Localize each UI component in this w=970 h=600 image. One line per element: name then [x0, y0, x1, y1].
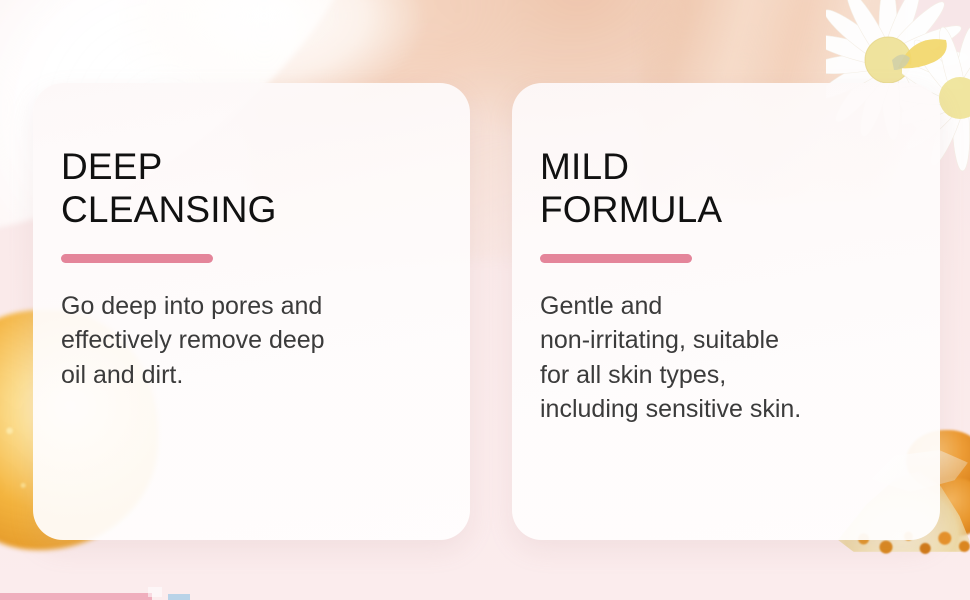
card-body: Go deep into pores and effectively remov… [61, 289, 431, 393]
card-body: Gentle and non-irritating, suitable for … [540, 289, 910, 427]
accent-rule [61, 254, 213, 263]
bottom-blue-chip [168, 594, 190, 600]
page-root: DEEP CLEANSING Go deep into pores and ef… [0, 0, 970, 600]
bottom-pink-bar [0, 593, 152, 600]
feature-card-list: DEEP CLEANSING Go deep into pores and ef… [0, 0, 970, 600]
feature-card-mild-formula[interactable]: MILD FORMULA Gentle and non-irritating, … [512, 83, 940, 540]
card-title: DEEP CLEANSING [61, 145, 470, 232]
accent-rule [540, 254, 692, 263]
bottom-gap-mask [148, 587, 162, 597]
card-title: MILD FORMULA [540, 145, 940, 232]
feature-card-deep-cleansing[interactable]: DEEP CLEANSING Go deep into pores and ef… [33, 83, 470, 540]
